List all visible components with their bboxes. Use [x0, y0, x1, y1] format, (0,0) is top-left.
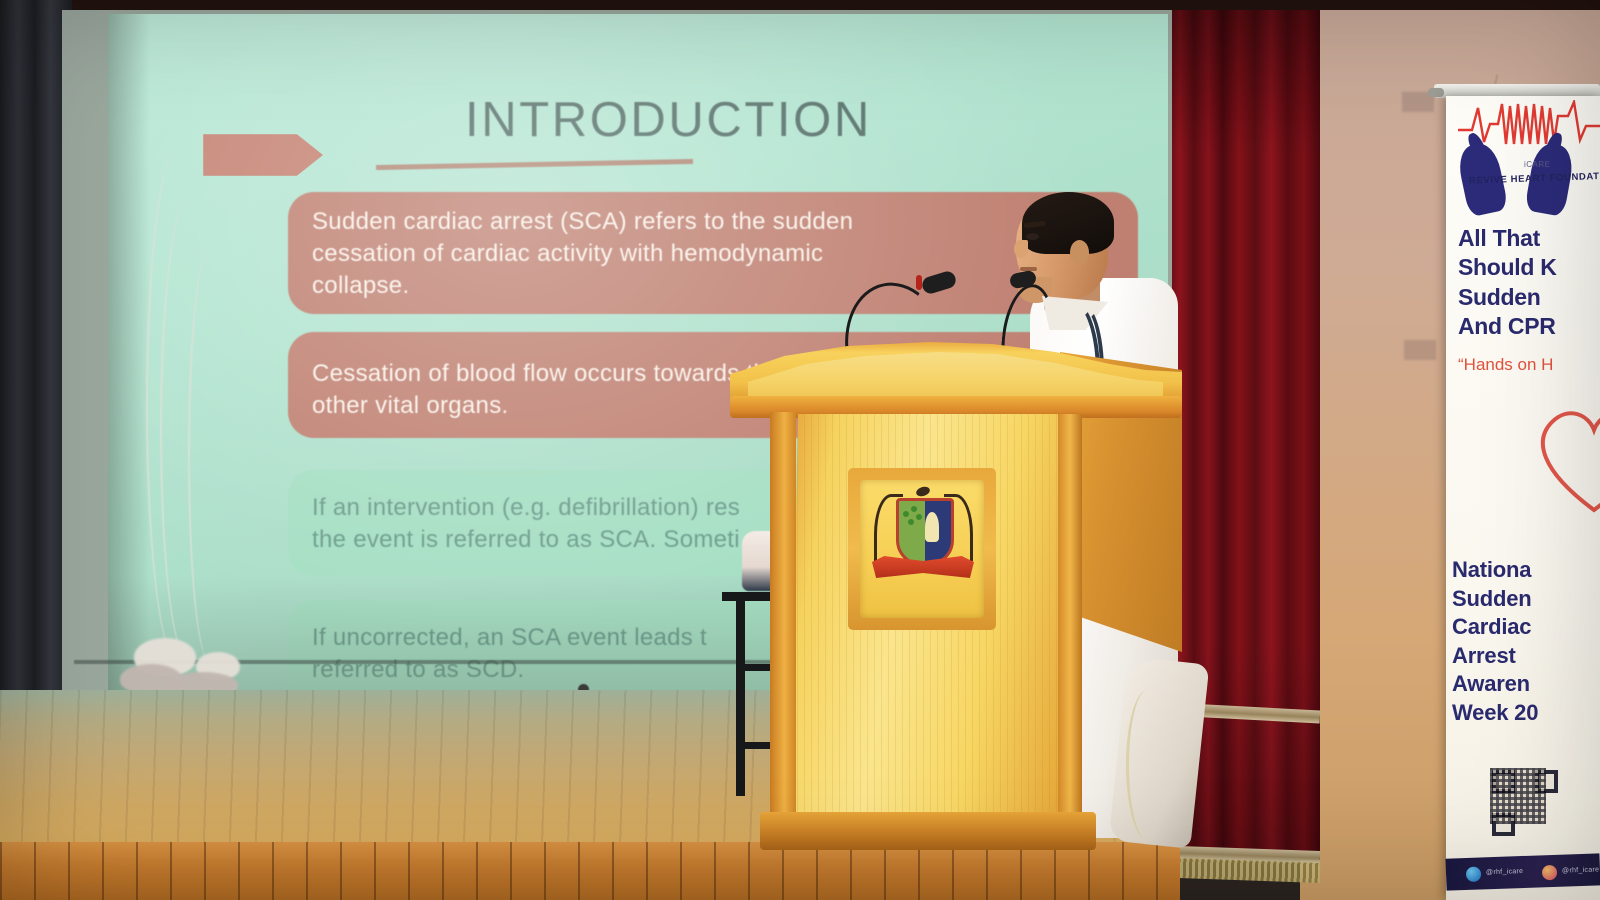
banner-subhead: Nationa Sudden Cardiac Arrest Awaren Wee… — [1452, 556, 1600, 728]
banner-logo-small-text: iCARE — [1524, 160, 1551, 169]
social-handle-1: @rhf_icare — [1562, 866, 1600, 874]
ceiling-shadow-bar — [0, 0, 1600, 10]
banner-headline-line-2: Sudden — [1458, 283, 1600, 312]
banner-headline-line-0: All That — [1458, 224, 1600, 253]
instagram-icon — [1542, 865, 1558, 881]
floor-cable — [1126, 690, 1169, 840]
banner-headline-line-1: Should K — [1458, 253, 1600, 282]
banner-subhead-line-1: Sudden — [1452, 585, 1600, 614]
photo-scene: INTRODUCTION Sudden cardiac arrest (SCA)… — [0, 0, 1600, 900]
podium-left-rail — [770, 412, 796, 828]
stage-edge-trim — [0, 842, 1180, 900]
banner-subhead-line-3: Arrest — [1452, 642, 1600, 671]
qr-code-icon — [1490, 768, 1546, 824]
speaker-eye — [1026, 233, 1039, 240]
banner-subhead-line-5: Week 20 — [1452, 699, 1600, 728]
banner-footer-strip: @rhf_icare @rhf_icare — [1445, 853, 1600, 890]
speaker-nose — [1014, 240, 1028, 258]
decor-wire — [188, 250, 230, 660]
heart-outline-icon — [1530, 392, 1600, 520]
facebook-icon — [1466, 866, 1482, 882]
banner-headline: All That Should K Sudden And CPR — [1458, 224, 1600, 342]
banner-tagline: “Hands on H — [1458, 355, 1600, 375]
podium-right-rail — [1058, 414, 1082, 826]
banner-headline-line-3: And CPR — [1458, 312, 1600, 341]
side-table-leg — [736, 600, 745, 796]
crest-torch-icon — [925, 512, 939, 542]
podium-base — [760, 812, 1096, 850]
banner-subhead-line-4: Awaren — [1452, 670, 1600, 699]
microphone-ring-left — [916, 275, 922, 290]
banner-subhead-line-0: Nationa — [1452, 556, 1600, 585]
banner-rod-cap — [1428, 88, 1444, 97]
social-handle-0: @rhf_icare — [1486, 868, 1524, 876]
speaker-ear — [1070, 240, 1089, 265]
banner-subhead-line-2: Cardiac — [1452, 613, 1600, 642]
